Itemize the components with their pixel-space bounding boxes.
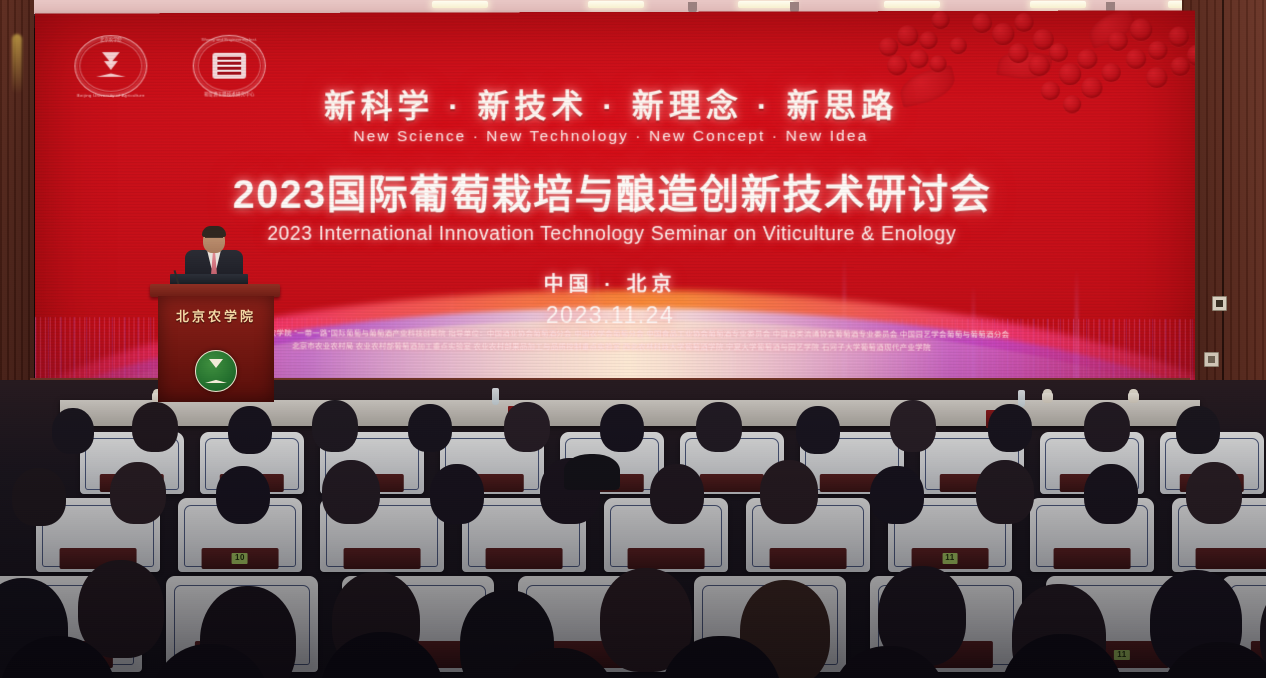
audience-member xyxy=(1084,402,1130,452)
row-number: 10 xyxy=(232,553,248,563)
left-wall-panel xyxy=(0,0,34,420)
row-number: 11 xyxy=(942,553,957,563)
tagline-cn: 新科学 · 新技术 · 新理念 · 新思路 xyxy=(35,87,1195,125)
audience-member xyxy=(870,466,924,524)
audience-area: 10 11 10 xyxy=(0,380,1266,678)
audience-member xyxy=(650,464,704,524)
audience-member xyxy=(216,466,270,524)
row-number: 11 xyxy=(1114,650,1129,660)
audience-member xyxy=(600,404,644,452)
logo-top-text: Winery and Engineering Inst. xyxy=(193,37,266,42)
audience-member xyxy=(110,462,166,524)
wall-switch-plate[interactable] xyxy=(1212,296,1227,311)
audience-member xyxy=(430,464,484,524)
tea-cup xyxy=(1042,392,1053,403)
water-bottle xyxy=(492,388,499,405)
glasses-icon xyxy=(205,237,223,241)
audience-member xyxy=(52,408,94,454)
logo-top-text: 北京农学院 xyxy=(74,37,147,43)
audience-member xyxy=(988,404,1032,452)
tagline-en: New Science · New Technology · New Conce… xyxy=(35,127,1195,146)
logo-row: 北京农学院 Beijing University of Agriculture … xyxy=(74,35,265,97)
podium-sign-text: 北京农学院 xyxy=(158,306,274,325)
tea-cup xyxy=(1128,392,1139,403)
audience-member xyxy=(890,400,936,452)
wine-and-engineering-institute-logo: Winery and Engineering Inst. 葡萄酒工程技术研究中心 xyxy=(193,35,266,97)
audience-member xyxy=(78,560,164,658)
water-bottle xyxy=(1018,390,1025,407)
audience-member xyxy=(1176,406,1220,454)
main-title-cn: 2023国际葡萄栽培与酿造创新技术研讨会 xyxy=(35,161,1195,220)
audience-member xyxy=(132,402,178,452)
audience-member xyxy=(228,406,272,454)
audience-member xyxy=(312,400,358,452)
audience-member xyxy=(408,404,452,452)
podium: 北京农学院 xyxy=(152,284,278,402)
audience-member xyxy=(760,460,818,524)
conference-hall-scene: 北京农学院 Beijing University of Agriculture … xyxy=(0,0,1266,678)
beijing-university-of-agriculture-logo: 北京农学院 Beijing University of Agriculture xyxy=(74,35,147,97)
wall-outlet-plate[interactable] xyxy=(1204,352,1219,367)
audience-member xyxy=(504,402,550,452)
audience-member xyxy=(696,402,742,452)
audience-member xyxy=(1186,462,1242,524)
audience-member xyxy=(322,460,380,524)
audience-member xyxy=(12,468,66,526)
audience-member-with-cap xyxy=(564,454,620,490)
audience-member xyxy=(1084,464,1138,524)
audience-member xyxy=(976,460,1034,524)
beijing-university-of-agriculture-emblem xyxy=(195,350,237,392)
audience-member xyxy=(796,406,840,454)
